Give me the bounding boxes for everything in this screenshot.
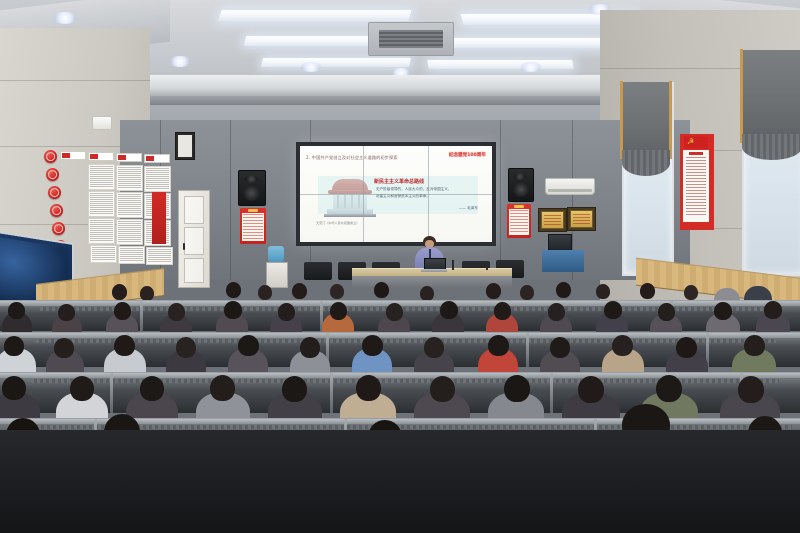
slide-attribution: —— 毛泽东	[459, 206, 478, 211]
classroom-door[interactable]	[178, 190, 210, 288]
audience-head	[684, 285, 698, 300]
left-wall-speaker	[238, 170, 266, 206]
presentation-slide: 2. 中国共产党创立及对社会主义道路的初步探索 纪念建党100周年 新民主主义革…	[300, 146, 492, 242]
wifi-access-point-icon	[92, 116, 112, 130]
board-document	[116, 165, 143, 191]
slide-image-caption: 天安门（中华人民共和国成立）	[316, 220, 359, 225]
audience-head	[210, 375, 235, 401]
board-header-tab	[60, 151, 86, 160]
right-red-poster	[507, 204, 531, 238]
audience-head	[330, 302, 347, 320]
audience-head	[714, 302, 732, 320]
lecture-hall-photo: 2. 中国共产党创立及对社会主义道路的初步探索 纪念建党100周年 新民主主义革…	[0, 0, 800, 533]
audience-head	[112, 284, 127, 300]
red-badge	[48, 186, 61, 199]
audience-head	[658, 303, 675, 321]
board-document	[88, 164, 115, 190]
ceiling-spotlight	[520, 62, 542, 72]
audience-head	[486, 283, 501, 299]
ceiling-panel-light	[447, 38, 609, 48]
audience-head	[140, 376, 164, 401]
audience-head	[238, 335, 259, 356]
audience-head	[58, 304, 75, 321]
ceiling-panel-light	[261, 58, 411, 67]
audience-head	[226, 282, 241, 298]
audience-head	[386, 303, 403, 321]
board-document	[116, 192, 143, 218]
audience-head	[168, 303, 185, 321]
slide-anniversary-banner: 纪念建党100周年	[449, 152, 486, 158]
presenter-laptop-base[interactable]	[421, 269, 447, 272]
board-document	[144, 166, 171, 192]
ceiling-cassette-ac-unit	[368, 22, 454, 56]
audience-head	[656, 375, 682, 402]
red-badge	[50, 204, 63, 217]
board-document	[116, 219, 143, 245]
window-curtain	[622, 82, 670, 158]
right-wall-speaker	[508, 168, 534, 202]
red-badge	[52, 222, 65, 235]
av-cart	[542, 250, 584, 272]
audience-head	[362, 335, 383, 356]
ceiling-panel-light	[427, 60, 574, 69]
audience-head	[578, 376, 604, 403]
board-header-tab	[144, 154, 170, 163]
audience-head	[612, 335, 633, 356]
board-document	[88, 191, 115, 217]
audience-head	[282, 376, 307, 402]
audience-head	[114, 335, 135, 356]
board-header-tab	[88, 152, 114, 161]
audience-head	[224, 301, 242, 319]
red-badge	[46, 168, 59, 181]
audience-head	[430, 376, 455, 402]
honor-plaque-left	[538, 208, 567, 232]
framed-notice	[175, 132, 195, 160]
presenter-lanyard	[429, 249, 431, 258]
communist-party-banner: ☭	[680, 134, 714, 230]
audience-head	[258, 285, 272, 300]
party-banner-card	[683, 150, 709, 222]
audience-head	[520, 285, 534, 300]
floor	[0, 430, 800, 533]
audience-head	[488, 335, 509, 356]
slide-body-line: 无产阶级领导的，人民大众的，反对帝国主义、	[376, 187, 451, 192]
audience-head	[504, 375, 530, 402]
audience-head	[70, 376, 94, 401]
audience-head	[8, 302, 25, 319]
window-curtain	[742, 50, 800, 142]
audience-head	[140, 286, 154, 301]
audience-head	[4, 336, 24, 356]
audience-head	[278, 303, 295, 321]
audience-head	[676, 337, 697, 358]
audience-head	[548, 303, 565, 321]
audience-head	[2, 376, 26, 400]
slide-title: 2. 中国共产党创立及对社会主义道路的初步探索	[306, 155, 398, 161]
ceiling-spotlight	[168, 56, 192, 67]
board-document	[146, 247, 173, 265]
audience-head	[424, 337, 444, 358]
wall-split-ac-icon	[545, 178, 595, 195]
presentation-video-wall[interactable]: 2. 中国共产党创立及对社会主义道路的初步探索 纪念建党100周年 新民主主义革…	[296, 142, 496, 246]
audience-head	[440, 301, 458, 319]
desk-microphone	[486, 262, 488, 270]
audience-head	[54, 338, 74, 358]
audience-head	[596, 284, 610, 299]
audience-head	[764, 301, 782, 319]
board-header-tab	[116, 153, 142, 162]
audience-head	[550, 337, 570, 358]
audience-head	[300, 337, 320, 358]
audience-head	[114, 302, 131, 320]
audience-head	[640, 283, 655, 299]
audience-head	[738, 376, 764, 403]
audience-head	[292, 283, 307, 299]
audience-head	[374, 282, 389, 298]
audience-head	[330, 284, 344, 299]
board-document	[88, 218, 115, 244]
audience-head	[494, 302, 511, 320]
red-badge	[44, 150, 57, 163]
ceiling-spotlight	[300, 62, 322, 72]
left-red-poster	[240, 208, 266, 244]
left-red-hanging-banner	[152, 192, 166, 244]
audience-head	[604, 301, 622, 319]
desk-microphone	[452, 260, 454, 270]
audience-head	[744, 335, 765, 356]
audience-head	[556, 282, 571, 298]
audience-head	[420, 286, 434, 301]
board-document	[90, 245, 117, 263]
audience-head	[356, 375, 381, 401]
hammer-and-sickle-icon: ☭	[687, 138, 696, 146]
ceiling-panel-light	[218, 10, 411, 21]
honor-plaque-right	[567, 207, 596, 231]
slide-heading: 新民主主义革命总路线	[374, 178, 424, 185]
board-document	[118, 246, 145, 264]
audience-head	[176, 337, 196, 358]
ceiling-spotlight	[52, 12, 78, 24]
